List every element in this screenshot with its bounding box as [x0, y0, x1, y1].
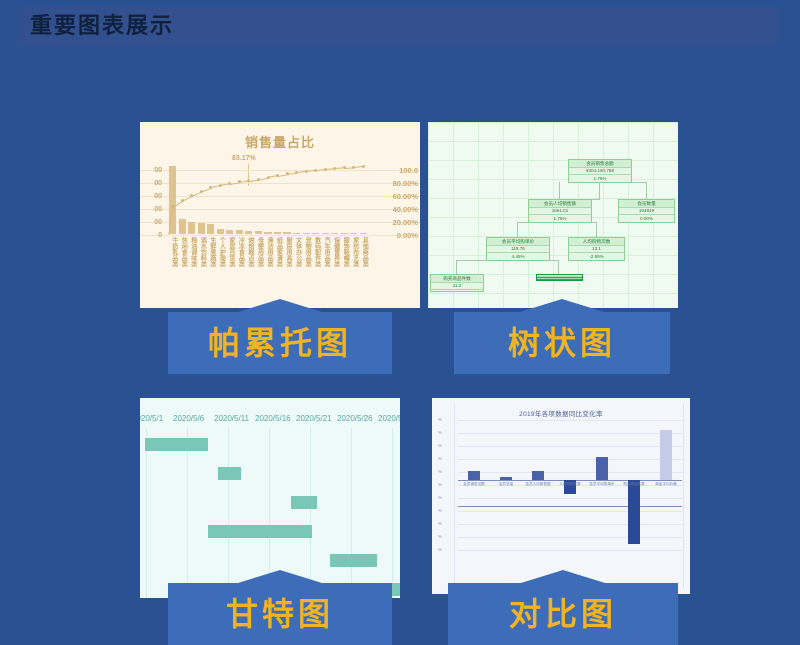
pareto-category-label: 生鲜果蔬类: [208, 237, 217, 267]
title-banner: 重要图表展示: [0, 6, 800, 51]
ribbon-notch: [520, 299, 604, 312]
tree-connector: [456, 260, 457, 274]
comparison-gridline: [458, 472, 682, 473]
comparison-gridline: [458, 511, 682, 512]
comparison-bar[interactable]: [660, 430, 672, 480]
pareto-line-marker: [219, 184, 222, 187]
comparison-category-label: 商品平均价格: [650, 482, 682, 487]
comparison-chart: 2019年各项数据同比变化率 %%%%%%%%%%%会员销售总额会员总量会员人均…: [432, 398, 690, 594]
tree-node[interactable]: 会员数量1948490.00%: [618, 199, 675, 223]
pareto-y-right-tick: 60.00%: [393, 192, 418, 201]
pareto-category-label: 清洁用品类: [265, 237, 274, 267]
pareto-annotation: 83.17%: [232, 155, 256, 162]
tree-diagram: 会员销售总额¥304,160,7881.75%会员人均销售额1561.011.7…: [428, 122, 678, 308]
pareto-y-left-tick: 00: [140, 180, 162, 187]
ribbon-notch: [238, 299, 322, 312]
tree-node[interactable]: 人均购物次数13.1-2.59%: [568, 237, 625, 261]
tree-node[interactable]: 购买商品件数11.2: [430, 274, 484, 292]
comparison-gridline: [458, 524, 682, 525]
pareto-bar: [188, 222, 195, 234]
pareto-category-label: 个人护理类: [217, 237, 226, 267]
comparison-category-label: 人均购物次数: [554, 482, 586, 487]
pareto-bar: [217, 229, 224, 234]
chart-label-pareto[interactable]: 帕累托图: [168, 312, 392, 374]
pareto-category-label: 母婴用品类: [255, 237, 264, 267]
tree-connector: [558, 260, 559, 274]
comparison-y-tick-label: %: [438, 495, 442, 500]
pareto-line-marker: [200, 190, 203, 193]
pareto-category-label: 冷冻食品类: [236, 237, 245, 267]
tree-node[interactable]: [536, 274, 583, 281]
pareto-bar: [341, 233, 348, 234]
pareto-y-right-tick: 40.00%: [393, 205, 418, 214]
tree-grid-line: [428, 255, 678, 256]
pareto-line-marker: [257, 178, 260, 181]
pareto-category-label: 家纺布艺类: [351, 237, 360, 267]
comparison-gridline: [458, 446, 682, 447]
tree-node-delta: 1.75%: [529, 215, 591, 222]
gantt-x-tick-label: 2020/5/21: [296, 414, 332, 423]
gantt-gridline: [351, 428, 352, 598]
tree-node-name: 会员平均购单价: [487, 238, 549, 246]
pareto-y-right-tick: 0.00%: [397, 231, 418, 240]
pareto-category-label: 酒水饮料类: [198, 237, 207, 267]
tree-node-value: 13.1: [569, 246, 624, 254]
pareto-category-label: 宠物用品类: [303, 237, 312, 267]
comparison-y-tick-label: %: [438, 547, 442, 552]
tree-connector: [456, 260, 487, 261]
pareto-bar: [207, 224, 214, 234]
comparison-y-tick-label: %: [438, 443, 442, 448]
gantt-x-tick-label: 2020/5/11: [214, 414, 249, 423]
pareto-bar: [312, 233, 319, 234]
tree-node[interactable]: 会员平均购单价118.764.45%: [486, 237, 550, 261]
pareto-bar: [179, 219, 186, 234]
pareto-line-marker: [267, 176, 270, 179]
tree-node[interactable]: 会员人均销售额1561.011.75%: [528, 199, 592, 223]
pareto-bar: [274, 232, 281, 234]
pareto-category-label: 休闲食品类: [179, 237, 188, 267]
comparison-category-label: 会员销售总额: [458, 482, 490, 487]
chart-label-tree[interactable]: 树状图: [454, 312, 670, 374]
comparison-y-tick-label: %: [438, 430, 442, 435]
tree-connector: [559, 182, 560, 199]
gantt-x-tick-label: 2020/5/1: [140, 414, 163, 423]
chart-card-compare[interactable]: 2019年各项数据同比变化率 %%%%%%%%%%%会员销售总额会员总量会员人均…: [432, 398, 690, 594]
chart-label-compare[interactable]: 对比图: [448, 583, 678, 645]
gantt-task-bar[interactable]: [145, 438, 207, 451]
pareto-y-left-tick: 00: [140, 219, 162, 226]
tree-node-value: 1561.01: [529, 208, 591, 216]
gantt-gridline: [187, 428, 188, 598]
comparison-category-label: 会员人均销售额: [522, 482, 554, 487]
tree-node-delta: 4.45%: [487, 253, 549, 260]
ribbon-notch: [238, 570, 322, 583]
chart-card-tree[interactable]: 会员销售总额¥304,160,7881.75%会员人均销售额1561.011.7…: [428, 122, 678, 308]
comparison-category-label: 会员总量: [490, 482, 522, 487]
comparison-category-label: 购买商品件数: [618, 482, 650, 487]
comparison-gridline: [458, 498, 682, 499]
pareto-plot-area: [168, 166, 368, 234]
comparison-y-tick-label: %: [438, 521, 442, 526]
pareto-category-label: 汽车用品类: [322, 237, 331, 267]
pareto-category-label: 家居百货类: [227, 237, 236, 267]
tree-node-delta: 0.00%: [619, 215, 674, 222]
pareto-line-marker: [324, 168, 327, 171]
pareto-bar: [264, 232, 271, 234]
pareto-y-left-tick: 0: [140, 232, 162, 239]
chart-label-gantt[interactable]: 甘特图: [168, 583, 392, 645]
pareto-bar: [303, 233, 310, 234]
comparison-y-tick-label: %: [438, 534, 442, 539]
comparison-gridline: [458, 550, 682, 551]
comparison-y-tick-label: %: [438, 508, 442, 513]
pareto-category-label: 保健营养类: [332, 237, 341, 267]
pareto-bar: [226, 230, 233, 234]
pareto-bar: [198, 223, 205, 234]
comparison-gridline: [458, 537, 682, 538]
tree-grid-line: [428, 236, 678, 237]
pareto-bar: [293, 233, 300, 234]
comparison-bar[interactable]: [500, 477, 512, 480]
pareto-y-left-tick: 00: [140, 206, 162, 213]
pareto-y-right-tick: 100.0: [399, 166, 418, 175]
comparison-gridline: [458, 433, 682, 434]
pareto-bar: [283, 232, 290, 234]
pareto-category-label: 烘焙糕点类: [246, 237, 255, 267]
comparison-bar[interactable]: [468, 471, 480, 480]
pareto-gridline: [140, 235, 420, 236]
comparison-gridline: [458, 459, 682, 460]
pareto-bar: [245, 231, 252, 234]
pareto-y-left-tick: 00: [140, 167, 162, 174]
chart-card-gantt[interactable]: 2020/5/12020/5/62020/5/112020/5/162020/5…: [140, 398, 400, 598]
gantt-task-bar[interactable]: [330, 554, 377, 567]
gantt-gridline: [146, 428, 147, 598]
pareto-line-marker: [209, 186, 212, 189]
pareto-category-label: 数码配件类: [313, 237, 322, 267]
tree-grid-line: [428, 293, 678, 294]
gantt-task-bar[interactable]: [208, 525, 312, 538]
comparison-y-tick-label: %: [438, 417, 442, 422]
comparison-bar[interactable]: [628, 480, 640, 544]
comparison-chart-title: 2019年各项数据同比变化率: [432, 408, 690, 418]
comparison-y-tick-label: %: [438, 456, 442, 461]
comparison-bar[interactable]: [532, 471, 544, 480]
tree-node-delta: -2.59%: [569, 253, 624, 260]
tree-connector: [596, 222, 597, 237]
comparison-plot-frame: [454, 404, 684, 588]
pareto-y-right-tick: 80.00%: [393, 179, 418, 188]
tree-node-name: 购买商品件数: [431, 275, 483, 283]
pareto-line-marker: [352, 166, 355, 169]
pareto-category-label: 厨房用具类: [284, 237, 293, 267]
pareto-category-label: 其他商品类: [360, 237, 369, 267]
slide-canvas: 销售量占比 83.17% 00 00 00 00 00 0 100.0: [10, 60, 790, 600]
tree-node[interactable]: 会员销售总额¥304,160,7881.75%: [568, 159, 632, 183]
pareto-bar: [331, 233, 338, 234]
comparison-zero-axis: [458, 506, 682, 507]
gantt-gridline: [392, 428, 393, 598]
tree-node-name: 会员人均销售额: [529, 200, 591, 208]
tree-connector: [646, 182, 647, 199]
chart-label-text: 树状图: [508, 326, 616, 360]
tree-node-value: ¥304,160,788: [569, 168, 631, 176]
tree-node-delta: 1.75%: [569, 175, 631, 182]
pareto-bar: [350, 233, 357, 234]
chart-card-pareto[interactable]: 销售量占比 83.17% 00 00 00 00 00 0 100.0: [140, 122, 420, 308]
tree-connector: [599, 182, 600, 199]
pareto-y-left-tick: 00: [140, 193, 162, 200]
tree-grid-line: [428, 122, 429, 308]
slide-root: 重要图表展示 销售量占比 83.17% 00 00 00 00: [0, 0, 800, 603]
ribbon-notch: [521, 570, 605, 583]
pareto-category-label: 文体办公类: [294, 237, 303, 267]
tree-node-delta: [431, 290, 483, 291]
tree-node-value: 118.76: [487, 246, 549, 254]
chart-label-text: 帕累托图: [208, 326, 352, 360]
pareto-line-marker: [362, 165, 365, 168]
chart-label-text: 甘特图: [226, 597, 334, 631]
gantt-task-bar[interactable]: [291, 496, 317, 509]
chart-label-text: 对比图: [509, 597, 617, 631]
gantt-x-tick-label: 2020/5/6: [173, 414, 204, 423]
pareto-chart: 销售量占比 83.17% 00 00 00 00 00 0 100.0: [140, 122, 420, 308]
tree-node-name: 会员数量: [619, 200, 674, 208]
tree-node-value: 194849: [619, 208, 674, 216]
pareto-bar: [236, 230, 243, 234]
comparison-bar[interactable]: [596, 457, 608, 481]
comparison-y-tick-label: %: [438, 482, 442, 487]
tree-node-name: 人均购物次数: [569, 238, 624, 246]
title-underline: [18, 46, 780, 50]
tree-connector: [517, 222, 518, 237]
comparison-category-label: 会员平均购单价: [586, 482, 618, 487]
pareto-line-marker: [314, 169, 317, 172]
gantt-x-tick-label: 2020/5/31: [378, 414, 400, 423]
pareto-line-marker: [181, 199, 184, 202]
page-title: 重要图表展示: [30, 12, 174, 40]
pareto-chart-title: 销售量占比: [140, 132, 420, 151]
comparison-y-tick-label: %: [438, 469, 442, 474]
gantt-task-bar[interactable]: [218, 467, 241, 480]
tree-node-value: 11.2: [431, 283, 483, 291]
pareto-category-label: 纸品家清类: [275, 237, 284, 267]
comparison-gridline: [458, 420, 682, 421]
tree-node-delta: [537, 279, 582, 280]
pareto-category-label: 服饰鞋帽类: [341, 237, 350, 267]
gantt-chart: 2020/5/12020/5/62020/5/112020/5/162020/5…: [140, 398, 400, 598]
pareto-bar: [255, 231, 262, 234]
pareto-bar: [322, 233, 329, 234]
pareto-category-label: 粮油调味类: [189, 237, 198, 267]
gantt-x-tick-label: 2020/5/16: [255, 414, 291, 423]
gantt-gridline: [228, 428, 229, 598]
tree-grid-line: [603, 122, 604, 308]
pareto-bar: [360, 233, 367, 234]
pareto-line-marker: [295, 171, 298, 174]
pareto-line-marker: [333, 167, 336, 170]
gantt-x-tick-label: 2020/5/26: [337, 414, 373, 423]
pareto-line-marker: [305, 170, 308, 173]
pareto-category-label: 牛奶乳品类: [170, 237, 179, 267]
tree-grid-line: [503, 122, 504, 308]
tree-node-name: 会员销售总额: [569, 160, 631, 168]
pareto-y-right-tick: 20.00%: [393, 218, 418, 227]
